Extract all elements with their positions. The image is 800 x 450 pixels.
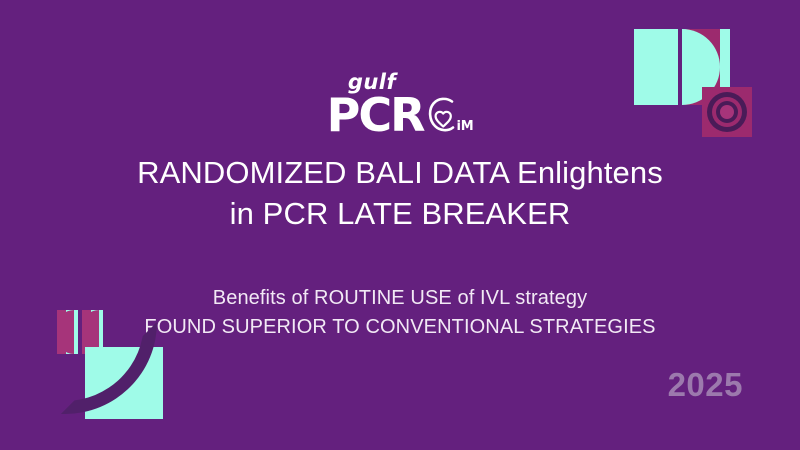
slide-title: RANDOMIZED BALI DATA Enlightens in PCR L… <box>0 153 800 235</box>
slide-title-line-2: in PCR LATE BREAKER <box>0 194 800 235</box>
logo-pcr-text: PCR <box>327 94 424 136</box>
slide-title-line-1: RANDOMIZED BALI DATA Enlightens <box>0 153 800 194</box>
presentation-slide: gulf PCR iM RANDOMIZED BALI DATA Enlight… <box>0 0 800 450</box>
slide-year: 2025 <box>668 366 743 404</box>
gulf-pcr-gim-logo: gulf PCR iM <box>0 72 800 136</box>
slide-subtitle-line-1: Benefits of ROUTINE USE of IVL strategy <box>0 284 800 313</box>
mint-square-arc-block <box>85 347 163 419</box>
heart-in-c-icon <box>426 95 460 135</box>
logo-mark-row: PCR iM <box>327 94 474 136</box>
